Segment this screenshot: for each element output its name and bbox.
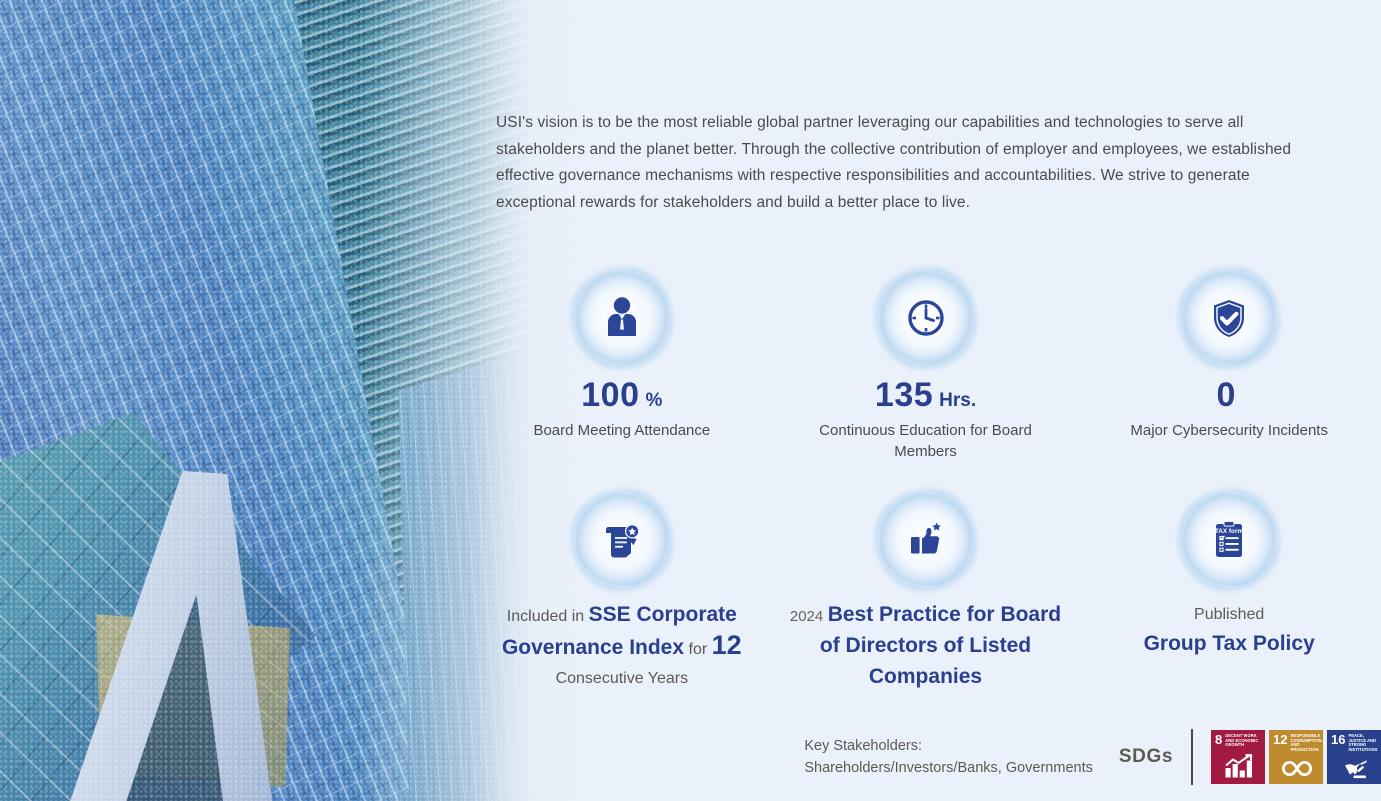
- stat-caption: Major Cybersecurity Incidents: [1130, 420, 1328, 441]
- award-prefix: Published: [1194, 606, 1264, 623]
- badge-tax-form: TAX form: [1183, 494, 1275, 586]
- stat-figure: 100 %: [581, 378, 662, 414]
- sdg-badge-list: 8 Decent work and economic growth: [1211, 730, 1381, 784]
- badge-businessperson: [576, 272, 668, 364]
- stat-figure: 0: [1216, 378, 1241, 414]
- stat-caption: Continuous Education for Board Members: [801, 420, 1051, 462]
- sdg-head: 8 Decent work and economic growth: [1215, 734, 1262, 748]
- stats-row-primary: 100 % Board Meeting Attendance 135: [470, 272, 1381, 462]
- award-suffix: Consecutive Years: [556, 670, 689, 687]
- award-text: 2024 Best Practice for Board of Director…: [781, 600, 1071, 693]
- award-number: 12: [712, 630, 742, 660]
- stat-number: 0: [1216, 378, 1235, 414]
- infinity-icon: [1281, 759, 1313, 778]
- sdg-title: Responsible consumption and production: [1290, 734, 1321, 753]
- content-panel: USI's vision is to be the most reliable …: [470, 0, 1381, 801]
- sdg-badge-16[interactable]: 16 Peace, justice and strong institution…: [1327, 730, 1381, 784]
- stat-number: 135: [875, 378, 933, 414]
- key-stakeholders-value: Shareholders/Investors/Banks, Government…: [804, 757, 1093, 779]
- sdg-badge-8[interactable]: 8 Decent work and economic growth: [1211, 730, 1265, 784]
- sdg-icon-wrap: [1331, 753, 1378, 784]
- businessperson-icon: [598, 294, 646, 342]
- sdg-head: 12 Responsible consumption and productio…: [1273, 734, 1320, 753]
- award-text: Included in SSE Corporate Governance Ind…: [477, 600, 767, 693]
- stat-unit: %: [646, 391, 663, 411]
- key-stakeholders: Key Stakeholders: Shareholders/Investors…: [804, 735, 1093, 779]
- sdg-title: Peace, justice and strong institutions: [1348, 734, 1378, 753]
- stat-caption: Board Meeting Attendance: [533, 420, 710, 441]
- stat-unit: Hrs.: [939, 391, 976, 411]
- badge-certificate: [576, 494, 668, 586]
- award-prefix: Included in: [507, 608, 584, 625]
- award-middle: for: [689, 641, 708, 658]
- sdg-number: 16: [1331, 734, 1345, 745]
- thumbs-up-star-icon: [902, 516, 950, 564]
- stat-cybersecurity-incidents: 0 Major Cybersecurity Incidents: [1077, 272, 1381, 462]
- award-highlight: Best Practice for Board of Directors of …: [820, 603, 1061, 688]
- award-highlight: Group Tax Policy: [1144, 632, 1315, 655]
- tax-form-label: TAX form: [1215, 528, 1244, 535]
- badge-thumbs-up: [880, 494, 972, 586]
- certificate-award-icon: [598, 516, 646, 564]
- award-sse-corporate-governance-index: Included in SSE Corporate Governance Ind…: [470, 494, 774, 693]
- clock-icon: [902, 294, 950, 342]
- stat-continuous-education: 135 Hrs. Continuous Education for Board …: [774, 272, 1078, 462]
- award-year: 2024: [790, 608, 823, 625]
- sdg-title: Decent work and economic growth: [1225, 734, 1262, 748]
- award-text: Published Group Tax Policy: [1144, 600, 1315, 660]
- sdg-number: 8: [1215, 734, 1222, 745]
- sdg-icon-wrap: [1215, 748, 1262, 784]
- stat-board-meeting-attendance: 100 % Board Meeting Attendance: [470, 272, 774, 462]
- sdgs-label: SDGs: [1119, 746, 1173, 768]
- shield-check-icon: [1205, 294, 1253, 342]
- sdg-icon-wrap: [1273, 753, 1320, 784]
- sdg-head: 16 Peace, justice and strong institution…: [1331, 734, 1378, 753]
- footer: Key Stakeholders: Shareholders/Investors…: [470, 729, 1381, 785]
- stat-number: 100: [581, 378, 639, 414]
- badge-clock: [880, 272, 972, 364]
- vision-paragraph: USI's vision is to be the most reliable …: [496, 110, 1316, 216]
- dove-gavel-icon: [1340, 756, 1370, 781]
- sdg-badge-12[interactable]: 12 Responsible consumption and productio…: [1269, 730, 1323, 784]
- sdg-number: 12: [1273, 734, 1287, 745]
- tax-form-icon: TAX form: [1205, 516, 1253, 564]
- award-group-tax-policy: TAX form Published Group Tax Policy: [1077, 494, 1381, 693]
- award-best-practice-board-of-directors: 2024 Best Practice for Board of Director…: [774, 494, 1078, 693]
- stats-row-awards: Included in SSE Corporate Governance Ind…: [470, 494, 1381, 693]
- vertical-divider: [1191, 729, 1193, 785]
- bar-chart-arrow-icon: [1224, 754, 1254, 779]
- key-stakeholders-label: Key Stakeholders:: [804, 735, 1093, 757]
- stat-figure: 135 Hrs.: [875, 378, 976, 414]
- badge-shield: [1183, 272, 1275, 364]
